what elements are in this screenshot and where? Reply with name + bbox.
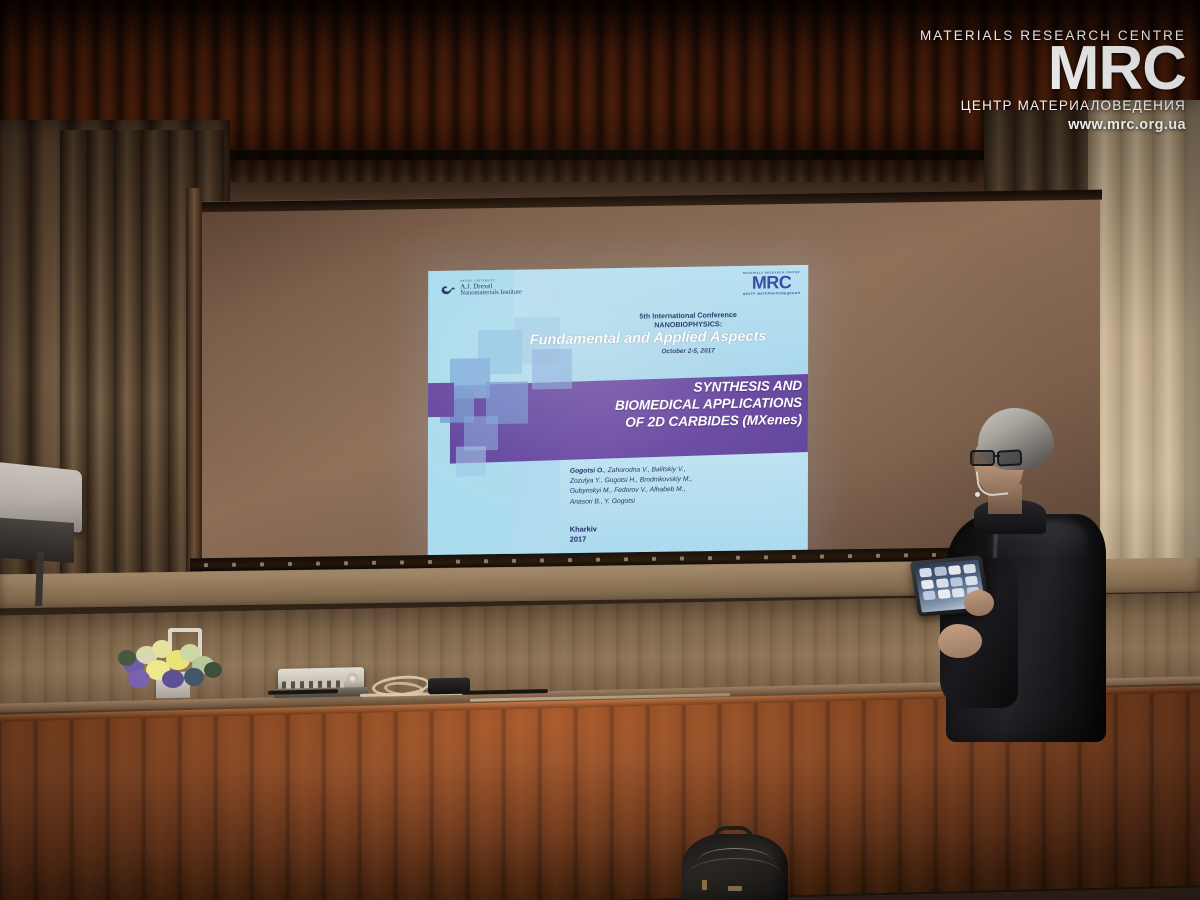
tablet-app-icon[interactable] (934, 566, 948, 576)
eyeglasses-icon (970, 450, 1026, 468)
flower-petal (118, 650, 136, 666)
rail-bolt (680, 556, 684, 560)
drexel-dragon-icon (440, 281, 457, 296)
backpack-tag (702, 880, 707, 890)
rail-bolt (848, 554, 852, 558)
projected-slide: DREXEL UNIVERSITY A.J. Drexel Nanomateri… (428, 265, 809, 559)
presenter-hand-right (964, 590, 994, 616)
watermark-russian-line: ЦЕНТР МАТЕРИАЛОВЕДЕНИЯ (920, 98, 1186, 113)
rail-bolt (652, 556, 656, 560)
rail-bolt (736, 555, 740, 559)
rail-bolt (624, 557, 628, 561)
tablet-app-icon[interactable] (965, 575, 979, 585)
eyeglass-lens-right (997, 449, 1023, 466)
headset-microphone-boom (976, 469, 1009, 498)
flower-petal (162, 670, 184, 688)
slide-decor-block (456, 446, 486, 476)
projection-screen-left-frame (186, 188, 202, 578)
drexel-nanomaterials-logo: DREXEL UNIVERSITY A.J. Drexel Nanomateri… (440, 280, 522, 298)
drexel-logo-text: DREXEL UNIVERSITY A.J. Drexel Nanomateri… (460, 280, 522, 298)
slide-authors: Gogotsi O., Zahorodna V., Balitskiy V., … (570, 463, 806, 508)
rail-bolt (540, 558, 544, 562)
rail-bolt (204, 563, 208, 567)
mrc-watermark: MATERIALS RESEARCH CENTRE MRC ЦЕНТР МАТЕ… (920, 28, 1186, 133)
rail-bolt (904, 553, 908, 557)
flower-petal (184, 668, 204, 686)
presenter (930, 408, 1130, 738)
rail-bolt (568, 558, 572, 562)
tablet-app-icon[interactable] (950, 576, 964, 586)
tablet-app-icon[interactable] (952, 588, 966, 598)
rail-bolt (344, 561, 348, 565)
rail-bolt (764, 555, 768, 559)
slide-decor-block (428, 383, 454, 417)
presentation-photo-scene: DREXEL UNIVERSITY A.J. Drexel Nanomateri… (0, 0, 1200, 900)
slide-place: Kharkiv 2017 (570, 522, 710, 544)
slide-canvas: DREXEL UNIVERSITY A.J. Drexel Nanomateri… (428, 265, 809, 559)
rail-bolt (820, 554, 824, 558)
tablet-app-icon[interactable] (919, 568, 933, 578)
rail-bolt (876, 553, 880, 557)
tablet-app-icon[interactable] (923, 590, 937, 600)
drexel-line-2: Nanomaterials Institute (460, 289, 522, 297)
rail-bolt (372, 560, 376, 564)
tablet-app-icon[interactable] (921, 579, 935, 589)
rail-bolt (232, 562, 236, 566)
presenter-hand-left (938, 624, 982, 658)
flower-petal (128, 670, 150, 688)
backpack[interactable] (676, 820, 794, 900)
rail-bolt (792, 554, 796, 558)
headset-microphone-tip (975, 492, 980, 497)
rail-bolt (456, 559, 460, 563)
rail-bolt (596, 557, 600, 561)
rail-bolt (288, 561, 292, 565)
tablet-app-icon[interactable] (937, 589, 951, 599)
rail-bolt (316, 561, 320, 565)
watermark-url: www.mrc.org.ua (920, 117, 1186, 133)
rail-bolt (428, 560, 432, 564)
slide-mrc-logo: MATERIALS RESEARCH CENTRE MRC ЦЕНТР МАТЕ… (743, 271, 800, 295)
slide-mrc-acronym: MRC (743, 274, 800, 291)
eyeglass-lens-left (970, 450, 995, 466)
flower-petal (204, 662, 222, 678)
rail-bolt (708, 556, 712, 560)
slide-main-title: SYNTHESIS AND BIOMEDICAL APPLICATIONS OF… (518, 377, 808, 433)
tablet-app-icon[interactable] (963, 564, 977, 574)
rail-bolt (400, 560, 404, 564)
watermark-acronym: MRC (920, 44, 1186, 95)
rail-bolt (484, 559, 488, 563)
flower-bouquet (118, 636, 226, 692)
backpack-logo (728, 886, 742, 891)
tablet-app-icon[interactable] (935, 578, 949, 588)
rail-bolt (260, 562, 264, 566)
rail-bolt (512, 558, 516, 562)
tablet-app-icon[interactable] (948, 565, 962, 575)
